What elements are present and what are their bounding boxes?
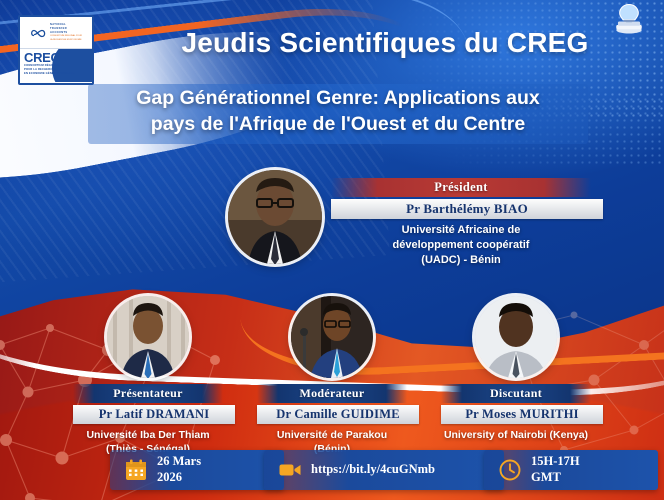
event-date-line-2: 2026 — [157, 470, 201, 486]
creg-acronym: CREG — [24, 50, 60, 65]
avatar — [228, 170, 322, 264]
participant-affiliation-line-1: Université Iba Der Thiam — [73, 428, 223, 442]
participant-role-badge: Présentateur — [73, 384, 223, 403]
event-info-bar: 26 Mars 2026 https://bit.ly/4cuGNmb 15H-… — [0, 450, 664, 492]
portrait-camille-guidime — [291, 296, 373, 378]
nta-logo-section: NATIONAL TRANSFER ACCOUNTS CONSORTIUM RÉ… — [20, 17, 92, 49]
portrait-president — [228, 170, 322, 264]
calendar-icon — [124, 458, 148, 482]
president-affiliation-line-1: Université Africaine de — [331, 223, 591, 238]
event-date-chip: 26 Mars 2026 — [110, 450, 284, 490]
nta-logo-text: NATIONAL TRANSFER ACCOUNTS CONSORTIUM RÉ… — [50, 23, 82, 43]
participant-affiliation-line-1: University of Nairobi (Kenya) — [441, 428, 591, 442]
event-date-line-1: 26 Mars — [157, 454, 201, 470]
participant-info: Modérateur Dr Camille GUIDIME Université… — [257, 384, 407, 456]
page-title: Jeudis Scientifiques du CREG — [150, 27, 620, 59]
lightbulb-on-books-icon — [612, 2, 646, 36]
portrait-moses-murithi — [475, 296, 557, 378]
participant-affiliation: University of Nairobi (Kenya) — [441, 428, 591, 442]
avatar — [475, 296, 557, 378]
president-block: Président Pr Barthélémy BIAO Université … — [228, 170, 648, 280]
event-link-chip[interactable]: https://bit.ly/4cuGNmb — [264, 450, 504, 490]
video-camera-icon — [278, 458, 302, 482]
nta-sub-2: LA RECHERCHE EN ÉCONOMIE — [50, 39, 82, 42]
participant-affiliation-line-1: Université de Parakou — [257, 428, 407, 442]
participant-name-badge: Pr Moses MURITHI — [441, 405, 603, 424]
participant-info: Discutant Pr Moses MURITHI University of… — [441, 384, 591, 442]
event-date-text: 26 Mars 2026 — [157, 454, 201, 485]
event-time-chip: 15H-17H GMT — [484, 450, 658, 490]
participant-moderateur: Modérateur Dr Camille GUIDIME Université… — [232, 296, 432, 456]
participant-role-badge: Discutant — [441, 384, 591, 403]
president-info: Président Pr Barthélémy BIAO Université … — [331, 178, 591, 268]
event-poster: NATIONAL TRANSFER ACCOUNTS CONSORTIUM RÉ… — [0, 0, 664, 500]
avatar — [107, 296, 189, 378]
avatar — [291, 296, 373, 378]
creg-tagline: CONSORTIUM RÉGIONAL POUR LA RECHERCHE EN… — [24, 64, 88, 77]
nta-line-3: ACCOUNTS — [50, 31, 82, 35]
portrait-latif-dramani — [107, 296, 189, 378]
president-affiliation-line-3: (UADC) - Bénin — [331, 253, 591, 268]
creg-tagline-3: EN ECONOMIE GÉNÉRATIONNELLE — [24, 72, 88, 76]
nta-sub-1: CONSORTIUM RÉGIONAL POUR — [50, 35, 82, 38]
participant-role-badge: Modérateur — [257, 384, 407, 403]
participant-name-badge: Dr Camille GUIDIME — [257, 405, 419, 424]
president-affiliation-line-2: développement coopératif — [331, 238, 591, 253]
subtitle-line-1: Gap Générationnel Genre: Applications au… — [88, 85, 588, 111]
clock-icon — [498, 458, 522, 482]
event-time-line-1: 15H-17H — [531, 454, 580, 470]
event-subtitle: Gap Générationnel Genre: Applications au… — [88, 85, 588, 138]
president-role-badge: Président — [331, 178, 591, 197]
event-time-line-2: GMT — [531, 470, 580, 486]
creg-logo: NATIONAL TRANSFER ACCOUNTS CONSORTIUM RÉ… — [18, 15, 94, 85]
nta-infinity-icon — [30, 26, 48, 40]
subtitle-line-2: pays de l'Afrique de l'Ouest et du Centr… — [88, 111, 588, 137]
participant-discutant: Discutant Pr Moses MURITHI University of… — [416, 296, 616, 442]
creg-logo-section: CREG CONSORTIUM RÉGIONAL POUR LA RECHERC… — [20, 49, 92, 82]
event-time-text: 15H-17H GMT — [531, 454, 580, 485]
participant-info: Présentateur Pr Latif DRAMANI Université… — [73, 384, 223, 456]
president-name-badge: Pr Barthélémy BIAO — [331, 199, 603, 219]
event-link-text[interactable]: https://bit.ly/4cuGNmb — [311, 462, 435, 478]
participants-row: Présentateur Pr Latif DRAMANI Université… — [0, 296, 664, 446]
president-affiliation: Université Africaine de développement co… — [331, 223, 591, 268]
participant-name-badge: Pr Latif DRAMANI — [73, 405, 235, 424]
participant-presentateur: Présentateur Pr Latif DRAMANI Université… — [48, 296, 248, 456]
